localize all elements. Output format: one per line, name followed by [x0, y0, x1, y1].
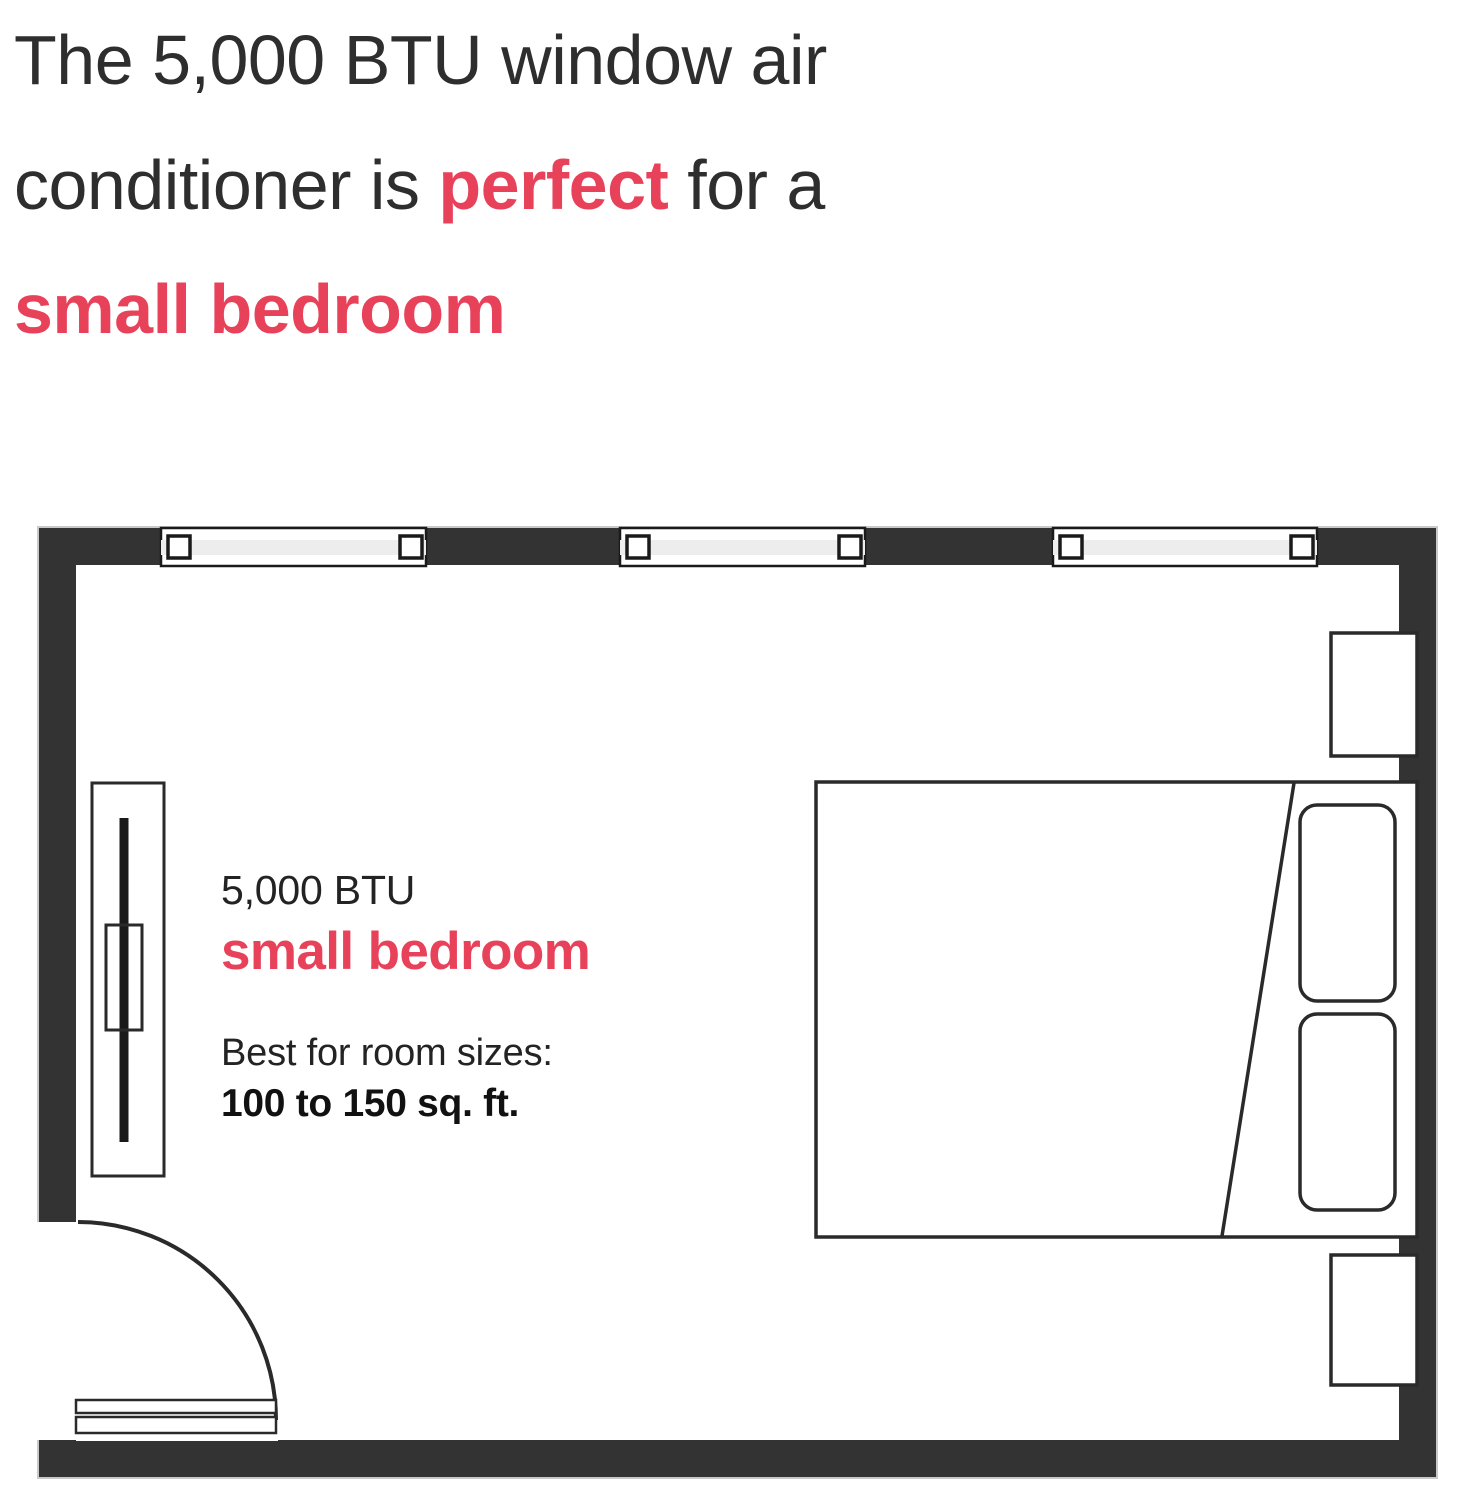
plan-room-type: small bedroom [221, 918, 821, 986]
window-top-left [161, 528, 426, 566]
pillow-lower [1300, 1014, 1395, 1210]
window-top-center [620, 528, 865, 566]
door-leaf [76, 1400, 276, 1413]
headline-line-2-pre: conditioner is [14, 146, 438, 224]
plan-size-range: 100 to 150 sq. ft. [221, 1080, 821, 1128]
headline-accent-perfect: perfect [438, 146, 668, 224]
page-title: The 5,000 BTU window air conditioner is … [14, 0, 1344, 372]
door-threshold [76, 1417, 276, 1433]
headline-line-1: The 5,000 BTU window air [14, 0, 1344, 123]
plan-btu-label: 5,000 BTU [221, 868, 821, 914]
nightstand-lower [1331, 1255, 1417, 1385]
headline-line-3: small bedroom [14, 247, 1344, 372]
headline-line-2-post: for a [668, 146, 825, 224]
bed [816, 782, 1417, 1237]
dresser [92, 783, 164, 1176]
nightstand-upper [1331, 633, 1417, 756]
headline-line-1-text: The 5,000 BTU window air [14, 21, 827, 99]
pillow-upper [1300, 805, 1395, 1001]
window-group [161, 528, 1317, 566]
plan-best-for-label: Best for room sizes: [221, 1030, 821, 1076]
headline-line-2: conditioner is perfect for a [14, 123, 1344, 248]
floor-plan-label-block: 5,000 BTU small bedroom Best for room si… [221, 868, 821, 1128]
window-top-right [1053, 528, 1317, 566]
headline-accent-small-bedroom: small bedroom [14, 270, 505, 348]
infographic-page: The 5,000 BTU window air conditioner is … [0, 0, 1476, 1500]
door-opening-left-wall [37, 1222, 78, 1440]
